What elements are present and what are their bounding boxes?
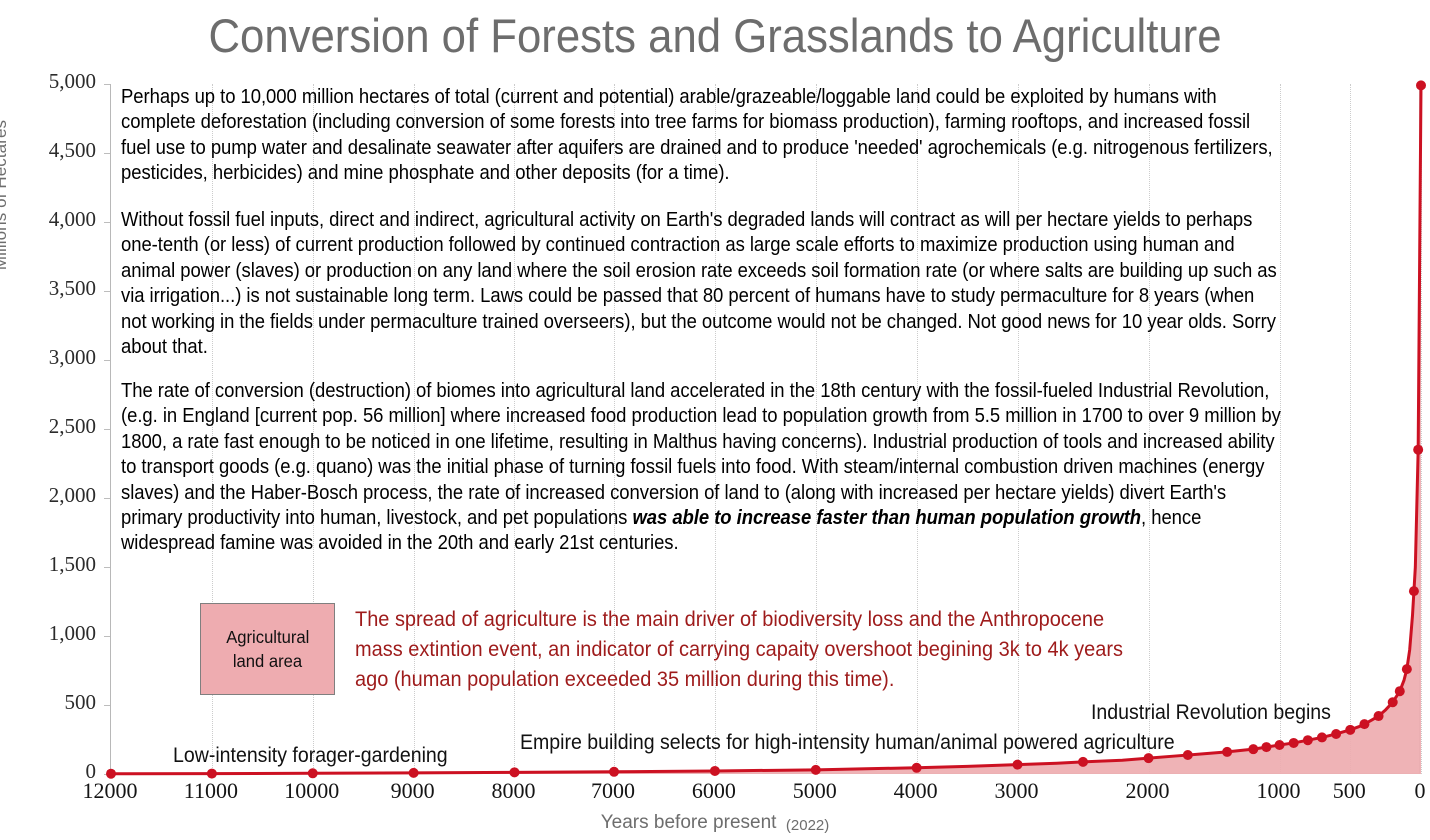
body-paragraph-3-emphasis: was able to increase faster than human p… [632,507,1141,529]
x-tick-label: 6000 [692,778,736,804]
red-note-line-1: The spread of agriculture is the main dr… [355,605,1219,635]
y-tick-label: 2,500 [16,414,96,439]
data-point-marker [1275,740,1285,750]
data-point-marker [1359,719,1369,729]
x-tick-label: 7000 [591,778,635,804]
data-point-marker [1222,747,1232,757]
x-axis-title-group: Years before present (2022) [0,812,1430,834]
data-point-marker [1331,729,1341,739]
body-paragraph-1: Perhaps up to 10,000 million hectares of… [121,85,1281,187]
data-point-marker [308,768,318,778]
x-axis-title: Years before present [601,812,777,833]
x-tick-label: 4000 [894,778,938,804]
y-tick-label: 500 [16,690,96,715]
data-point-marker [1416,80,1426,90]
data-point-marker [1317,732,1327,742]
data-point-marker [1248,744,1258,754]
data-point-marker [1395,686,1405,696]
data-point-marker [912,763,922,773]
x-axis-reference-year: (2022) [786,817,829,834]
y-axis-title: Millions of Hectares [0,90,11,300]
data-point-marker [811,765,821,775]
data-point-marker [710,766,720,776]
x-tick-label: 11000 [184,778,238,804]
annotation-empire-building: Empire building selects for high-intensi… [520,731,1175,755]
data-point-marker [1409,586,1419,596]
x-tick-label: 8000 [491,778,535,804]
data-point-marker [1261,742,1271,752]
data-point-marker [1303,735,1313,745]
annotation-forager-gardening: Low-intensity forager-gardening [173,744,448,768]
x-tick-label: 500 [1333,778,1366,804]
data-point-marker [1388,697,1398,707]
x-tick-label: 12000 [83,778,138,804]
y-tick-label: 3,000 [16,345,96,370]
data-point-marker [1183,750,1193,760]
legend-label-line-1: Agricultural [226,625,309,649]
red-annotation-note: The spread of agriculture is the main dr… [355,605,1219,695]
body-paragraph-3: The rate of conversion (destruction) of … [121,379,1281,557]
y-tick-label: 1,500 [16,552,96,577]
page-title: Conversion of Forests and Grasslands to … [50,8,1380,64]
x-tick-label: 3000 [995,778,1039,804]
data-point-marker [609,767,619,777]
x-tick-label: 2000 [1126,778,1170,804]
x-tick-label: 10000 [284,778,339,804]
red-note-line-3: ago (human population exceeded 35 millio… [355,665,1219,695]
data-point-marker [409,768,419,778]
legend-swatch-agricultural-land-area: Agricultural land area [200,603,335,695]
data-point-marker [1013,760,1023,770]
x-tick-label: 9000 [391,778,435,804]
y-tick-label: 5,000 [16,69,96,94]
y-tick-label: 3,500 [16,276,96,301]
data-point-marker [1345,725,1355,735]
y-tick-label: 4,500 [16,138,96,163]
y-tick-label: 4,000 [16,207,96,232]
x-tick-label: 1000 [1257,778,1301,804]
legend-label-line-2: land area [233,649,302,673]
annotation-industrial-revolution: Industrial Revolution begins [1091,701,1331,725]
data-point-marker [1413,445,1423,455]
red-note-line-2: mass extintion event, an indicator of ca… [355,635,1219,665]
y-tick-label: 2,000 [16,483,96,508]
data-point-marker [1289,738,1299,748]
data-point-marker [509,767,519,777]
data-point-marker [1078,757,1088,767]
data-point-marker [1374,711,1384,721]
body-paragraph-2: Without fossil fuel inputs, direct and i… [121,208,1281,360]
x-tick-label: 5000 [793,778,837,804]
x-tick-label: 0 [1415,778,1426,804]
y-tick-label: 1,000 [16,621,96,646]
data-point-marker [1402,664,1412,674]
